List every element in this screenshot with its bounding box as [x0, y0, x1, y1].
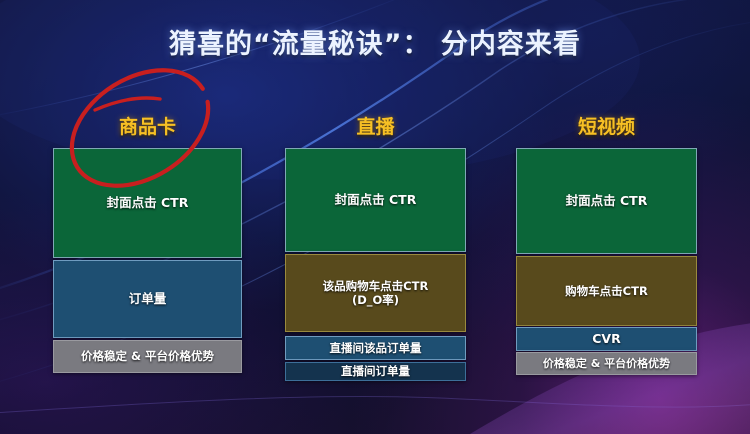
block-live-room-product-orders[interactable]: 直播间该品订单量 [285, 336, 466, 360]
block-live-room-orders[interactable]: 直播间订单量 [285, 362, 466, 381]
block-label-line2: (D_O率) [352, 293, 399, 307]
block-order-volume[interactable]: 订单量 [53, 260, 242, 338]
block-cover-click-ctr[interactable]: 封面点击 CTR [516, 148, 697, 254]
slide-canvas: 猜喜的“流量秘诀”： 分内容来看 商品卡 封面点击 CTR 订单量 价格稳定 &… [0, 0, 750, 434]
block-price-stability[interactable]: 价格稳定 & 平台价格优势 [516, 352, 697, 375]
block-label-line1: 该品购物车点击CTR [323, 279, 429, 293]
block-product-cart-click-ctr[interactable]: 该品购物车点击CTR (D_O率) [285, 254, 466, 332]
block-price-stability[interactable]: 价格稳定 & 平台价格优势 [53, 340, 242, 373]
column-header-product-card: 商品卡 [53, 112, 242, 139]
page-title: 猜喜的“流量秘诀”： 分内容来看 [0, 22, 750, 61]
block-cover-click-ctr[interactable]: 封面点击 CTR [285, 148, 466, 252]
block-cvr[interactable]: CVR [516, 327, 697, 351]
column-product-card: 商品卡 封面点击 CTR 订单量 价格稳定 & 平台价格优势 [53, 112, 242, 374]
block-cart-click-ctr[interactable]: 购物车点击CTR [516, 256, 697, 326]
column-live-stream: 直播 封面点击 CTR 该品购物车点击CTR (D_O率) 直播间该品订单量 直… [285, 112, 466, 382]
block-cover-click-ctr[interactable]: 封面点击 CTR [53, 148, 242, 258]
column-header-live-stream: 直播 [285, 112, 466, 139]
column-short-video: 短视频 封面点击 CTR 购物车点击CTR CVR 价格稳定 & 平台价格优势 [516, 112, 697, 376]
column-header-short-video: 短视频 [516, 112, 697, 139]
